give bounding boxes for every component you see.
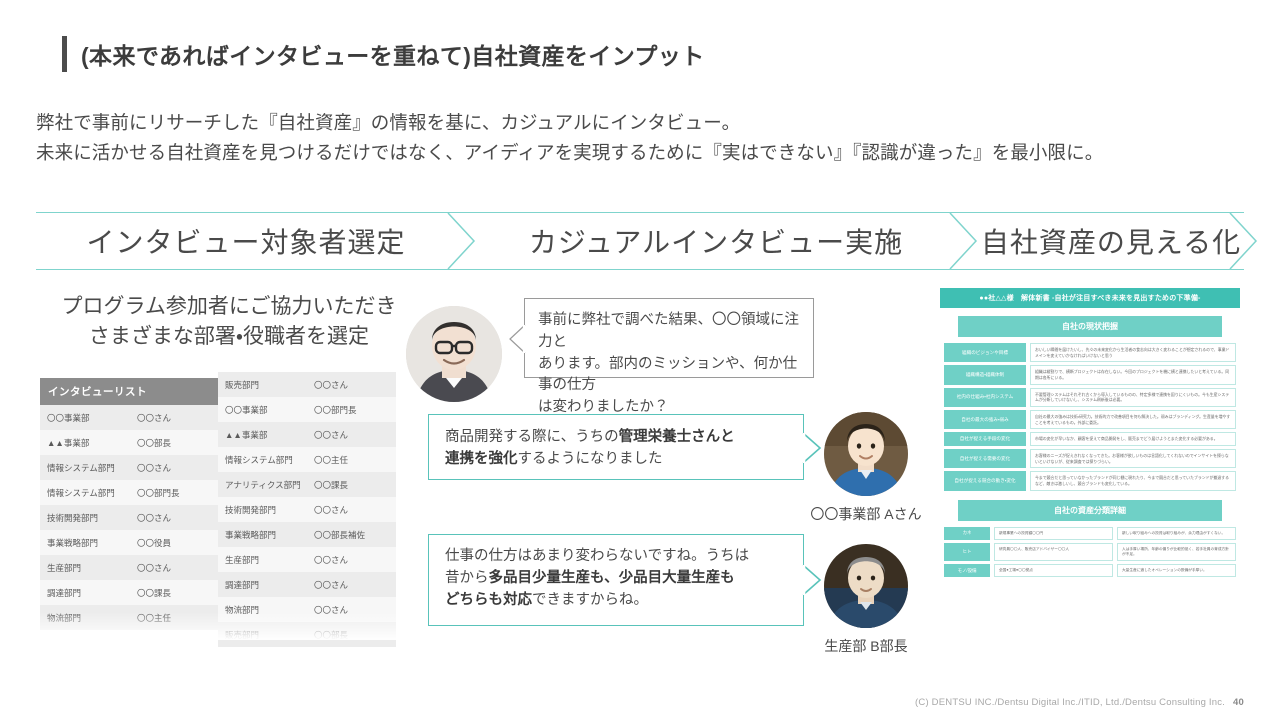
asset-document-panel[interactable]: ●●社△△様 解体新書 -自社が注目すべき未来を見出すための下準備- 自社の現状… xyxy=(940,288,1240,638)
table-cell-department: 〇〇事業部 xyxy=(40,412,130,424)
doc-row-label: 組織のビジョンや目標 xyxy=(944,343,1026,362)
left-heading-line-1: プログラム参加者にご協力いただき xyxy=(44,292,414,322)
interviewer-list-body-b: 販売部門〇〇さん〇〇事業部〇〇部門長▲▲事業部〇〇さん情報システム部門〇〇主任ア… xyxy=(218,372,396,647)
table-cell-department: ▲▲事業部 xyxy=(40,437,130,449)
doc-section-2-header: 自社の資産分類詳細 xyxy=(958,500,1222,521)
table-cell-person: 〇〇課長 xyxy=(307,479,396,491)
bubble-b-line2-bold: 多品目少量生産も、少品目大量生産も xyxy=(489,570,735,586)
interviewer-list-table-a: インタビューリスト 〇〇事業部〇〇さん▲▲事業部〇〇部長情報システム部門〇〇さん… xyxy=(40,378,220,630)
table-cell-department: 販売部門 xyxy=(218,379,307,391)
doc-row: 組織構造・組織体制組織は縦割りで、横断プロジェクトは存在しない。今回のプロジェク… xyxy=(944,365,1236,384)
lead-line-2: 未来に活かせる自社資産を見つけるだけではなく、アイディアを実現するために『実はで… xyxy=(36,138,1103,168)
interviewer-list-table-b: 販売部門〇〇さん〇〇事業部〇〇部門長▲▲事業部〇〇さん情報システム部門〇〇主任ア… xyxy=(218,372,396,647)
step-1[interactable]: インタビュー対象者選定 xyxy=(36,213,456,269)
table-cell-person: 〇〇部長補佐 xyxy=(307,529,396,541)
bubble-b-line2-plain: 昔から xyxy=(445,570,489,586)
table-cell-department: 生産部門 xyxy=(40,562,130,574)
table-cell-person: 〇〇主任 xyxy=(307,454,396,466)
bubble-b-line3-plain: できますからね。 xyxy=(532,592,648,608)
table-cell-person: 〇〇役員 xyxy=(130,537,220,549)
speech-bubble-person-a: 商品開発する際に、うちの管理栄養士さんと 連携を強化するようになりました xyxy=(428,414,804,480)
avatar-interviewer xyxy=(406,306,502,402)
table-row: 〇〇事業部〇〇さん xyxy=(40,405,220,430)
person-a-label: 〇〇事業部 Aさん xyxy=(806,504,926,524)
doc-title: ●●社△△様 解体新書 -自社が注目すべき未来を見出すための下準備- xyxy=(940,288,1240,308)
table-cell-department: 情報システム部門 xyxy=(40,487,130,499)
avatar-person-b xyxy=(824,544,908,628)
table-row: 技術開発部門〇〇さん xyxy=(40,505,220,530)
doc-asset-note: 大量生産に適したオペレーションの設備が手厚い。 xyxy=(1117,564,1236,577)
table-cell-person: 〇〇さん xyxy=(130,512,220,524)
table-cell-person: 〇〇さん xyxy=(307,429,396,441)
chevron-divider-1-icon xyxy=(442,213,480,269)
table-row: ▲▲事業部〇〇さん xyxy=(218,422,396,447)
doc-row-text: 市場の変化が早いなか、顧客を捉えて商品開発をし、販売までどう届けようとまた変化す… xyxy=(1030,432,1236,446)
speech-bubble-interviewer-text: 事前に弊社で調べた結果、〇〇領域に注力と あります。部内のミッションや、何か仕事… xyxy=(538,310,800,419)
table-cell-person: 〇〇さん xyxy=(307,379,396,391)
bubble-a-line2-bold: 連携を強化 xyxy=(445,451,518,467)
doc-section-2-rows: カネ新規事業への投資額〇〇円新しい取り組みへの投資は取り組みが、余力理由がすくな… xyxy=(940,527,1240,578)
page-title: (本来であればインタビューを重ねて)自社資産をインプット xyxy=(62,36,705,72)
table-cell-department: 〇〇事業部 xyxy=(218,404,307,416)
avatar-person-a-illustration-icon xyxy=(824,412,908,496)
title-text: (本来であればインタビューを重ねて)自社資産をインプット xyxy=(81,37,705,71)
table-row: 情報システム部門〇〇主任 xyxy=(218,447,396,472)
table-cell-department: 調達部門 xyxy=(218,579,307,591)
avatar-person-b-illustration-icon xyxy=(824,544,908,628)
doc-asset-note: 新しい取り組みへの投資は取り組みが、余力理由がすくない。 xyxy=(1117,527,1236,540)
interviewer-list-body-a: 〇〇事業部〇〇さん▲▲事業部〇〇部長情報システム部門〇〇さん情報システム部門〇〇… xyxy=(40,405,220,630)
table-row: 〇〇事業部〇〇部門長 xyxy=(218,397,396,422)
left-heading-line-2: さまざまな部署・役職者を選定 xyxy=(44,322,414,352)
title-accent-bar xyxy=(62,36,67,72)
doc-row-label: 自社が捉える手段の変化 xyxy=(944,432,1026,446)
bubble-a-line1-bold: 管理栄養士さんと xyxy=(619,429,735,445)
table-cell-person: 〇〇部長 xyxy=(130,437,220,449)
table-cell-department: 技術開発部門 xyxy=(40,512,130,524)
table-cell-person: 〇〇さん xyxy=(130,412,220,424)
person-b-label: 生産部 B部長 xyxy=(806,636,926,656)
table-cell-person: 〇〇さん xyxy=(130,562,220,574)
bubble-interviewer-line-2: あります。部内のミッションや、何か仕事の仕方 xyxy=(538,356,797,394)
doc-row-text: 今まで競合だと思っていなかったブランドが同じ棚に現れたり、今まで競合だと思ってい… xyxy=(1030,471,1236,490)
doc-asset-value: 全国●工場●〇〇拠点 xyxy=(994,564,1113,577)
speech-bubble-interviewer: 事前に弊社で調べた結果、〇〇領域に注力と あります。部内のミッションや、何か仕事… xyxy=(524,298,814,378)
speech-bubble-person-b-tail-icon xyxy=(802,564,822,601)
doc-row-label: 自社が捉える競合の動き・変化 xyxy=(944,471,1026,490)
avatar-interviewer-illustration-icon xyxy=(406,306,502,402)
step-3[interactable]: 自社資産の見える化 xyxy=(978,213,1244,269)
doc-asset-label: カネ xyxy=(944,527,990,540)
table-cell-department: アナリティクス部門 xyxy=(218,479,307,491)
doc-asset-row: モノ/設備全国●工場●〇〇拠点大量生産に適したオペレーションの設備が手厚い。 xyxy=(944,564,1236,577)
doc-row: 自社が捉える手段の変化市場の変化が早いなか、顧客を捉えて商品開発をし、販売までど… xyxy=(944,432,1236,446)
speech-bubble-person-a-text: 商品開発する際に、うちの管理栄養士さんと 連携を強化するようになりました xyxy=(445,427,787,471)
doc-asset-label: モノ/設備 xyxy=(944,564,990,577)
lead-line-1: 弊社で事前にリサーチした『自社資産』の情報を基に、カジュアルにインタビュー。 xyxy=(36,108,1103,138)
speech-bubble-interviewer-tail-icon xyxy=(508,324,526,359)
table-cell-person: 〇〇部門長 xyxy=(307,404,396,416)
doc-asset-value: 研究員〇〇人、販売店アドバイザー〇〇人 xyxy=(994,543,1113,561)
table-cell-department: 情報システム部門 xyxy=(40,462,130,474)
table-cell-department: 事業戦略部門 xyxy=(40,537,130,549)
table-cell-person: 〇〇部門長 xyxy=(130,487,220,499)
lead-paragraph: 弊社で事前にリサーチした『自社資産』の情報を基に、カジュアルにインタビュー。 未… xyxy=(36,108,1103,168)
bubble-a-line2-plain: するようになりました xyxy=(518,451,663,467)
speech-bubble-person-a-tail-icon xyxy=(802,432,822,469)
table-row: ▲▲事業部〇〇部長 xyxy=(40,430,220,455)
table-row: アナリティクス部門〇〇課長 xyxy=(218,472,396,497)
table-row: 事業戦略部門〇〇部長補佐 xyxy=(218,522,396,547)
table-row: 技術開発部門〇〇さん xyxy=(218,497,396,522)
bubble-a-line1-plain: 商品開発する際に、うちの xyxy=(445,429,619,445)
doc-section-1-rows: 組織のビジョンや目標おいしい瞬間を届けたいし、先々の未来変化から生活者の食志向は… xyxy=(940,343,1240,491)
table-row: 調達部門〇〇さん xyxy=(218,572,396,597)
table-cell-department: 調達部門 xyxy=(40,587,130,599)
footer-copyright: (C) DENTSU INC./Dentsu Digital Inc./ITID… xyxy=(915,697,1225,708)
doc-row: 自社の最大の強み・弱み自社の最大の強みは技術・研究力。技術的力で改善項目を何も解… xyxy=(944,410,1236,429)
step-3-label: 自社資産の見える化 xyxy=(981,221,1241,261)
doc-row-label: 社内の仕組み・社内システム xyxy=(944,388,1026,407)
doc-row: 社内の仕組み・社内システム不要管理システムはそれぞれ古くから導入しているものの、… xyxy=(944,388,1236,407)
interviewer-list-title: インタビューリスト xyxy=(40,378,220,405)
page-number: 40 xyxy=(1233,697,1244,708)
table-row: 調達部門〇〇課長 xyxy=(40,580,220,605)
table-cell-department: 事業戦略部門 xyxy=(218,529,307,541)
table-cell-department: ▲▲事業部 xyxy=(218,429,307,441)
step-2-label: カジュアルインタビュー実施 xyxy=(529,221,903,261)
doc-row-label: 自社が捉える需要の変化 xyxy=(944,449,1026,468)
table-cell-person: 〇〇課長 xyxy=(130,587,220,599)
slide-root: (本来であればインタビューを重ねて)自社資産をインプット 弊社で事前にリサーチし… xyxy=(0,0,1280,720)
doc-row: 自社が捉える需要の変化お客様のニーズが捉えきれなくなってきた。お客様が欲しいもの… xyxy=(944,449,1236,468)
doc-asset-row: ヒト研究員〇〇人、販売店アドバイザー〇〇人人は手厚い場所、年齢の偏りが比較的低く… xyxy=(944,543,1236,561)
doc-asset-value: 新規事業への投資額〇〇円 xyxy=(994,527,1113,540)
doc-asset-row: カネ新規事業への投資額〇〇円新しい取り組みへの投資は取り組みが、余力理由がすくな… xyxy=(944,527,1236,540)
table-row: 生産部門〇〇さん xyxy=(218,547,396,572)
doc-row: 組織のビジョンや目標おいしい瞬間を届けたいし、先々の未来変化から生活者の食志向は… xyxy=(944,343,1236,362)
speech-bubble-person-b-text: 仕事の仕方はあまり変わらないですね。うちは 昔から多品目少量生産も、少品目大量生… xyxy=(445,546,787,611)
table-cell-department: 生産部門 xyxy=(218,554,307,566)
table-row: 販売部門〇〇さん xyxy=(218,372,396,397)
doc-row-label: 組織構造・組織体制 xyxy=(944,365,1026,384)
process-steps-band: インタビュー対象者選定 カジュアルインタビュー実施 自社資産の見える化 xyxy=(36,212,1244,270)
avatar-person-a xyxy=(824,412,908,496)
chevron-divider-2-icon xyxy=(944,213,982,269)
doc-row-text: お客様のニーズが捉えきれなくなってきた。お客様が欲しいものは言語化してくれないの… xyxy=(1030,449,1236,468)
doc-asset-note: 人は手厚い場所、年齢の偏りが比較的低く、若手社員の育成方針が不足。 xyxy=(1117,543,1236,561)
bubble-b-line1: 仕事の仕方はあまり変わらないですね。うちは xyxy=(445,548,749,564)
doc-asset-label: ヒト xyxy=(944,543,990,561)
table-cell-person: 〇〇さん xyxy=(130,462,220,474)
doc-section-1-header: 自社の現状把握 xyxy=(958,316,1222,337)
footer: (C) DENTSU INC./Dentsu Digital Inc./ITID… xyxy=(915,697,1244,708)
table-row: 情報システム部門〇〇さん xyxy=(40,455,220,480)
step-2[interactable]: カジュアルインタビュー実施 xyxy=(476,213,956,269)
doc-row: 自社が捉える競合の動き・変化今まで競合だと思っていなかったブランドが同じ棚に現れ… xyxy=(944,471,1236,490)
speech-bubble-person-b: 仕事の仕方はあまり変わらないですね。うちは 昔から多品目少量生産も、少品目大量生… xyxy=(428,534,804,626)
table-cell-department: 技術開発部門 xyxy=(218,504,307,516)
table-cell-department: 情報システム部門 xyxy=(218,454,307,466)
left-column-heading: プログラム参加者にご協力いただき さまざまな部署・役職者を選定 xyxy=(44,292,414,352)
table-cell-person: 〇〇さん xyxy=(307,504,396,516)
step-1-label: インタビュー対象者選定 xyxy=(86,221,405,261)
doc-row-text: 不要管理システムはそれぞれ古くから導入しているものの、特定多様で連携を図りにくい… xyxy=(1030,388,1236,407)
table-row: 事業戦略部門〇〇役員 xyxy=(40,530,220,555)
bubble-interviewer-line-1: 事前に弊社で調べた結果、〇〇領域に注力と xyxy=(538,312,799,350)
bubble-interviewer-line-3: は変わりましたか？ xyxy=(538,399,669,415)
table-fade-overlay xyxy=(38,612,398,640)
table-row: 情報システム部門〇〇部門長 xyxy=(40,480,220,505)
doc-row-text: 自社の最大の強みは技術・研究力。技術的力で改善項目を何も解決した。弱みはブランデ… xyxy=(1030,410,1236,429)
doc-row-text: 組織は縦割りで、横断プロジェクトは存在しない。今回のプロジェクトを機に横と連携し… xyxy=(1030,365,1236,384)
table-cell-person: 〇〇さん xyxy=(307,554,396,566)
doc-row-label: 自社の最大の強み・弱み xyxy=(944,410,1026,429)
chevron-divider-3-icon xyxy=(1224,213,1262,269)
table-cell-person: 〇〇さん xyxy=(307,579,396,591)
doc-row-text: おいしい瞬間を届けたいし、先々の未来変化から生活者の食志向は大きく変わることが想… xyxy=(1030,343,1236,362)
bubble-b-line3-bold: どちらも対応 xyxy=(445,592,532,608)
doc-fade-overlay xyxy=(940,614,1240,640)
table-row: 生産部門〇〇さん xyxy=(40,555,220,580)
